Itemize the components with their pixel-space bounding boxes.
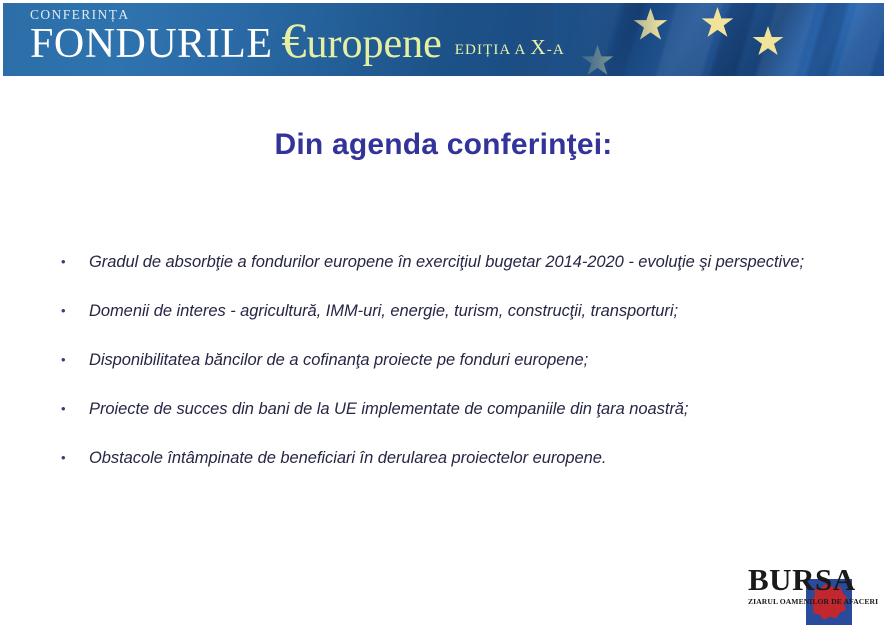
list-item: • Gradul de absorbţie a fondurilor europ… bbox=[56, 249, 826, 276]
bursa-wordmark: BURSA bbox=[748, 564, 856, 595]
bullet-marker-icon: • bbox=[56, 298, 89, 317]
bullet-marker-icon: • bbox=[56, 347, 89, 366]
edition-label: EDIȚIA A X-A bbox=[455, 42, 565, 58]
edition-number: X bbox=[531, 35, 547, 59]
edition-prefix: EDIȚIA A bbox=[455, 42, 531, 58]
conference-branding: CONFERINȚA FONDURILE€uropeneEDIȚIA A X-A bbox=[30, 8, 565, 65]
list-item: • Obstacole întâmpinate de beneficiari î… bbox=[56, 445, 826, 472]
list-item-text: Proiecte de succes din bani de la UE imp… bbox=[89, 396, 826, 423]
agenda-bullet-list: • Gradul de absorbţie a fondurilor europ… bbox=[56, 249, 826, 472]
edition-suffix: -A bbox=[547, 42, 565, 58]
bullet-marker-icon: • bbox=[56, 396, 89, 415]
list-item: • Disponibilitatea băncilor de a cofinan… bbox=[56, 347, 826, 374]
brand-word-europene: €uropene bbox=[282, 21, 442, 67]
flag-edge-blend bbox=[554, 3, 664, 76]
list-item-text: Disponibilitatea băncilor de a cofinanţa… bbox=[89, 347, 826, 374]
list-item-text: Obstacole întâmpinate de beneficiari în … bbox=[89, 445, 826, 472]
list-item: • Domenii de interes - agricultură, IMM-… bbox=[56, 298, 826, 325]
euro-currency-icon: € bbox=[282, 12, 307, 68]
list-item-text: Domenii de interes - agricultură, IMM-ur… bbox=[89, 298, 826, 325]
bursa-tagline: ZIARUL OAMENILOR DE AFACERI bbox=[748, 597, 878, 606]
bursa-logo: BURSA ZIARUL OAMENILOR DE AFACERI bbox=[748, 564, 868, 626]
list-item-text: Gradul de absorbţie a fondurilor europen… bbox=[89, 249, 826, 276]
eu-flag-image bbox=[554, 3, 884, 76]
list-item: • Proiecte de succes din bani de la UE i… bbox=[56, 396, 826, 423]
conference-header-banner: CONFERINȚA FONDURILE€uropeneEDIȚIA A X-A bbox=[3, 3, 884, 76]
page-title: Din agenda conferinţei: bbox=[0, 128, 887, 162]
brand-word-europene-text: uropene bbox=[307, 21, 442, 67]
presentation-slide: CONFERINȚA FONDURILE€uropeneEDIȚIA A X-A… bbox=[0, 0, 887, 634]
brand-word-fondurile: FONDURILE bbox=[30, 21, 273, 67]
bullet-marker-icon: • bbox=[56, 445, 89, 464]
bullet-marker-icon: • bbox=[56, 249, 89, 268]
conference-title-row: FONDURILE€uropeneEDIȚIA A X-A bbox=[30, 23, 565, 65]
